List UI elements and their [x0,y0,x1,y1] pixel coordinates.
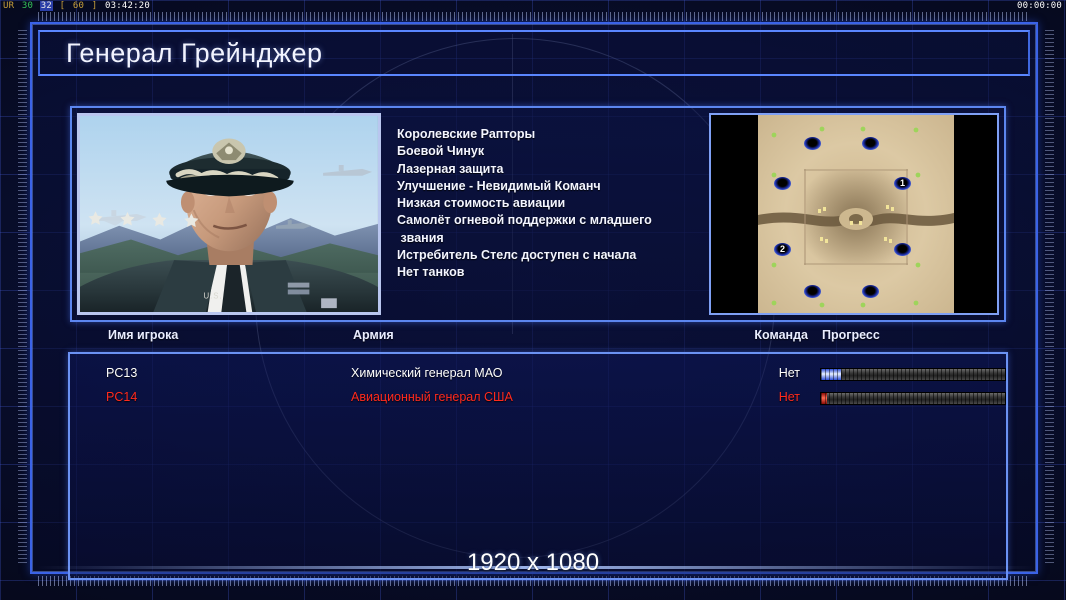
player-table-body: PC13Химический генерал МАОНетPC14Авиацио… [68,352,1008,580]
header-progress: Прогресс [822,328,880,342]
spawn-point-marker [862,137,879,150]
bonus-line: Лазерная защита [397,161,727,178]
ruler-ticks-left [18,30,27,566]
status-number-3: 60 [72,1,85,11]
spawn-point-marker [804,137,821,150]
spawn-point-marker: 2 [774,243,791,256]
status-clock: 03:42:20 [104,1,151,11]
spawn-point-marker [804,285,821,298]
ruler-ticks-top [38,12,1030,21]
map-preview-panel[interactable]: 12 [709,113,999,315]
bonus-line: Улучшение - Невидимый Команч [397,178,727,195]
cell-team: Нет [734,366,800,380]
cell-progress-bar [820,368,1006,381]
header-team: Команда [742,328,808,342]
general-bonus-list: Королевские Рапторы Боевой Чинук Лазерна… [397,126,727,282]
progress-fill [821,393,827,404]
general-portrait-image: U.S. [80,116,378,314]
ruler-ticks-right [1045,30,1054,566]
bonus-line: Истребитель Стелс доступен с начала [397,247,727,264]
game-screen-background: UR 30 32 [ 60 ] 03:42:20 00:00:00 Генера… [0,0,1066,600]
cell-player-name: PC14 [106,390,137,404]
status-number-2: 32 [40,1,53,11]
cell-progress-bar [820,392,1006,405]
header-player-name: Имя игрока [108,328,178,342]
progress-fill [821,369,841,380]
status-tag: UR [2,1,15,11]
table-row[interactable]: PC13Химический генерал МАОНет [70,362,1006,386]
bonus-line: Самолёт огневой поддержки с младшего [397,212,727,229]
spawn-point-marker [862,285,879,298]
resolution-caption: 1920 x 1080 [0,549,1066,577]
cell-player-name: PC13 [106,366,137,380]
bonus-line: Боевой Чинук [397,143,727,160]
cell-team: Нет [734,390,800,404]
table-row[interactable]: PC14Авиационный генерал СШАНет [70,386,1006,410]
status-bracket-close: ] [91,1,99,11]
general-info-panel: U.S. Королевские Рапторы Боевой Чинук Ла… [70,106,1006,322]
svg-text:U.S.: U.S. [204,291,223,300]
status-bracket-open: [ [59,1,67,11]
page-title: Генерал Грейнджер [66,38,323,69]
status-left-group: UR 30 32 [ 60 ] 03:42:20 [2,0,151,13]
progress-track [820,392,1006,405]
main-console-frame: Генерал Грейнджер [30,22,1038,574]
cell-army: Авиационный генерал США [351,390,513,404]
bonus-line: Королевские Рапторы [397,126,727,143]
spawn-point-marker: 1 [894,177,911,190]
spawn-point-marker [894,243,911,256]
bonus-line: звания [397,230,727,247]
bonus-line: Нет танков [397,264,727,281]
general-portrait-frame: U.S. [77,113,381,315]
title-bar: Генерал Грейнджер [38,30,1030,76]
top-status-bar: UR 30 32 [ 60 ] 03:42:20 00:00:00 [0,0,1066,13]
map-image: 12 [758,115,954,315]
cell-army: Химический генерал МАО [351,366,502,380]
status-number-1: 30 [21,1,34,11]
header-army: Армия [353,328,394,342]
match-timer: 00:00:00 [1017,0,1062,13]
progress-track [820,368,1006,381]
spawn-point-marker [774,177,791,190]
bonus-line: Низкая стоимость авиации [397,195,727,212]
player-table-header: Имя игрока Армия Команда Прогресс [70,328,1006,352]
